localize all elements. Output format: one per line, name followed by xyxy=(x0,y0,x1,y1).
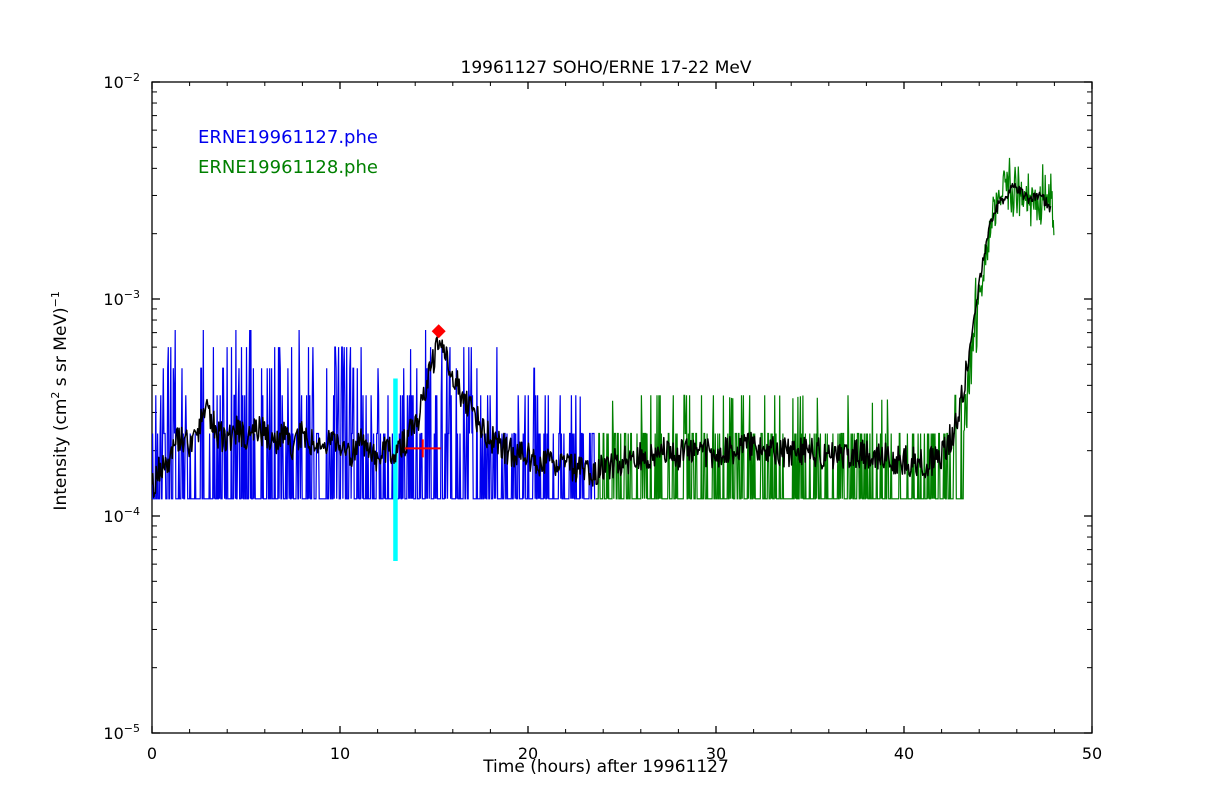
x-axis-label: Time (hours) after 19961127 xyxy=(0,757,1212,777)
y-axis-label-sup-2: 2 xyxy=(49,392,62,399)
chart-title: 19961127 SOHO/ERNE 17-22 MeV xyxy=(0,58,1212,78)
y-tick-label: 10−4 xyxy=(103,505,140,526)
legend-entry-series-2: ERNE19961128.phe xyxy=(198,153,378,183)
y-axis-label-mid: s sr MeV) xyxy=(51,307,71,391)
red-diamond-marker[interactable] xyxy=(432,324,446,338)
y-tick-label: 10−3 xyxy=(103,288,140,309)
legend: ERNE19961127.phe ERNE19961128.phe xyxy=(198,123,378,183)
y-axis-label-main: Intensity (cm xyxy=(51,399,71,511)
y-tick-label: 10−5 xyxy=(103,722,140,743)
y-axis-label: Intensity (cm2 s sr MeV)−1 xyxy=(49,191,71,611)
legend-entry-series-1: ERNE19961127.phe xyxy=(198,123,378,153)
y-axis-label-sup-inv: −1 xyxy=(49,291,62,307)
plot-svg: 0102030405010−510−410−310−2 xyxy=(0,0,1212,812)
figure-canvas: 0102030405010−510−410−310−2 19961127 SOH… xyxy=(0,0,1212,812)
data-series-1 xyxy=(152,330,595,499)
data-layer xyxy=(152,158,1054,561)
smoothed-average-curve xyxy=(152,184,1051,498)
